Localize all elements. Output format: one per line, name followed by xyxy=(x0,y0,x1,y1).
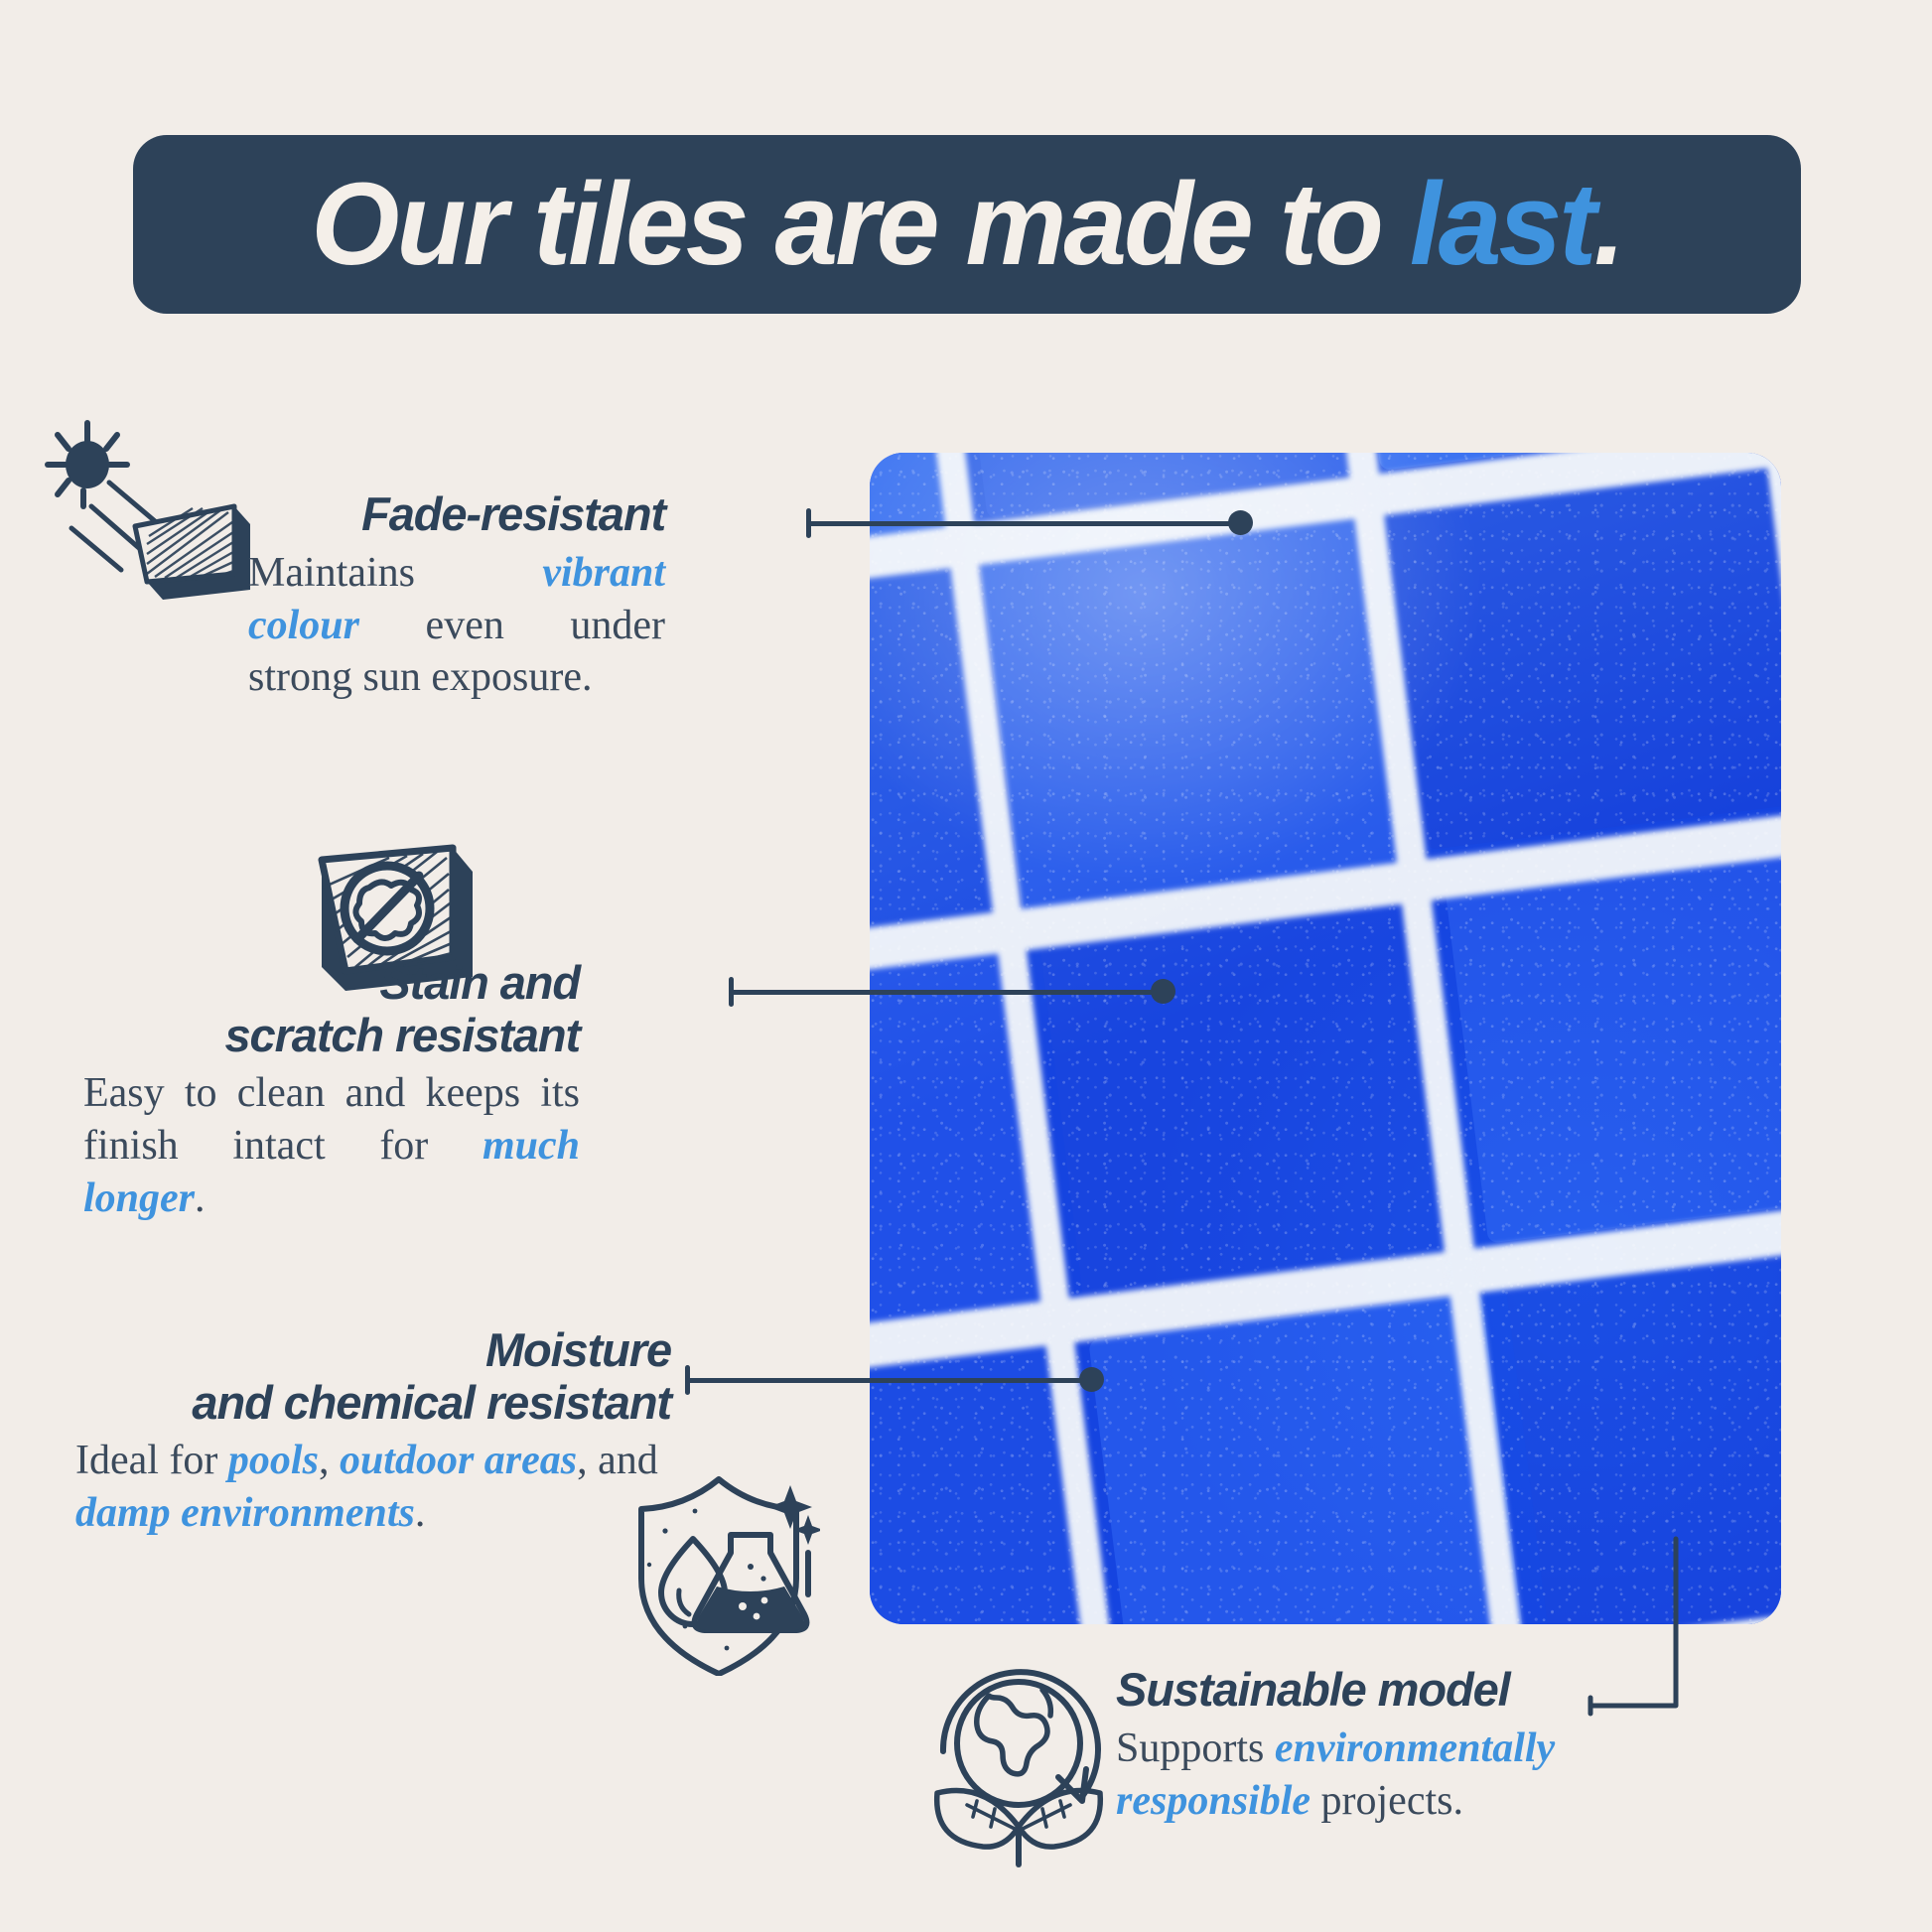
body-highlight: damp environments xyxy=(75,1490,415,1536)
headline-accent-word: last xyxy=(1410,159,1594,290)
feature-body-stain-scratch-resistant: Easy to clean and keeps its finish intac… xyxy=(83,1067,580,1225)
body-text: Supports xyxy=(1116,1725,1275,1771)
feature-stain-scratch-resistant: Stain and scratch resistant Easy to clea… xyxy=(83,957,580,1225)
feature-body-moisture-chemical-resistant: Ideal for pools, outdoor areas, and damp… xyxy=(75,1435,671,1540)
feature-title-stain-scratch-resistant: Stain and scratch resistant xyxy=(83,957,580,1061)
headline-part1: Our tiles are made to xyxy=(312,159,1410,290)
connector-stain-scratch-resistant xyxy=(729,977,1166,1007)
body-highlight: pools xyxy=(228,1438,319,1483)
feature-fade-resistant: Fade-resistant Maintains vibrant colour … xyxy=(248,488,665,704)
body-text: Maintains xyxy=(248,550,542,596)
feature-moisture-chemical-resistant: Moisture and chemical resistant Ideal fo… xyxy=(75,1324,671,1540)
body-text: , xyxy=(319,1438,340,1483)
connector-fade-resistant xyxy=(806,508,1243,538)
body-text: Ideal for xyxy=(75,1438,228,1483)
feature-body-fade-resistant: Maintains vibrant colour even under stro… xyxy=(248,547,665,705)
feature-title-moisture-chemical-resistant: Moisture and chemical resistant xyxy=(75,1324,671,1429)
feature-title-fade-resistant: Fade-resistant xyxy=(248,488,665,541)
body-text: . xyxy=(415,1490,426,1536)
body-highlight: outdoor areas xyxy=(340,1438,577,1483)
shield-droplet-flask-icon xyxy=(623,1467,820,1676)
globe-recycle-leaf-icon xyxy=(919,1652,1128,1870)
feature-body-sustainable-model: Supports environmentally responsible pro… xyxy=(1116,1723,1672,1828)
headline-period: . xyxy=(1594,159,1623,290)
body-text: projects. xyxy=(1311,1778,1463,1824)
connector-sustainable-model xyxy=(1585,1529,1743,1718)
page-title: Our tiles are made to last. xyxy=(312,166,1623,283)
tile-grid xyxy=(870,453,1781,1624)
blue-mosaic-pool-tiles-photo xyxy=(870,453,1781,1624)
body-text: . xyxy=(195,1175,206,1221)
headline-banner: Our tiles are made to last. xyxy=(133,135,1801,314)
connector-moisture-chemical-resistant xyxy=(685,1365,1094,1395)
sun-on-tile-icon xyxy=(44,415,262,604)
